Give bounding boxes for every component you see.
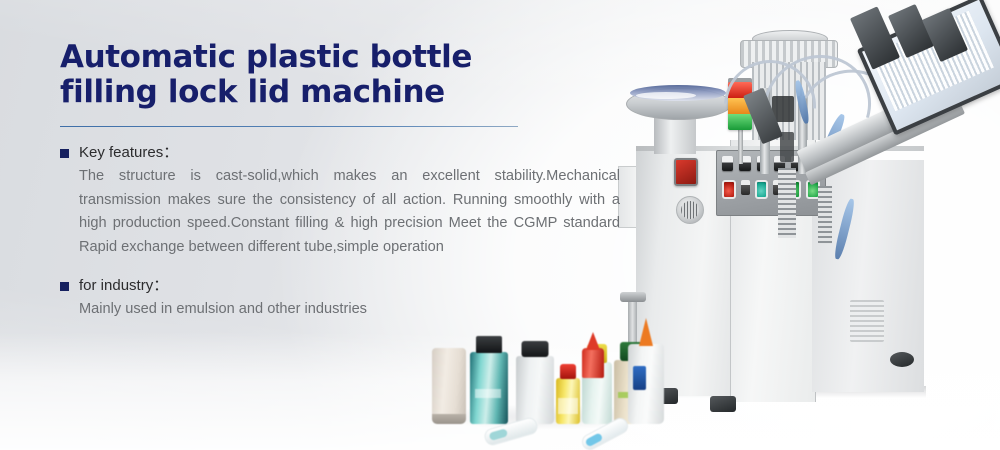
title-divider — [60, 126, 518, 127]
cabinet-fan-grille-icon — [676, 196, 704, 224]
push-button-red-icon — [722, 180, 736, 199]
bottle-teal — [470, 352, 508, 424]
bottle-cosmetic-tube — [432, 348, 466, 424]
section-body: Mainly used in emulsion and other indust… — [79, 298, 620, 322]
bottle-white — [516, 356, 554, 424]
cabinet-vent-louvers-icon — [850, 300, 884, 342]
section-heading: Key features： — [79, 143, 178, 162]
bottle-cap — [476, 336, 502, 353]
page-title: Automatic plastic bottle filling lock li… — [60, 40, 560, 110]
section-heading: for industry： — [79, 276, 168, 295]
section-key-features: Key features： The structure is cast-soli… — [60, 143, 620, 259]
turret-spring — [818, 186, 832, 244]
bottle-orange-tip — [628, 344, 664, 424]
emergency-stop-switch-icon — [674, 158, 698, 186]
bottle-cap — [522, 341, 549, 357]
push-button-teal-icon — [755, 180, 769, 199]
bowl-feeder-highlight — [636, 92, 696, 99]
selector-knob-icon — [722, 156, 733, 171]
caster-wheel — [710, 396, 736, 412]
copy-block: Automatic plastic bottle filling lock li… — [60, 40, 620, 322]
caster-wheel — [890, 352, 914, 367]
machine-photo — [612, 0, 1000, 430]
turret-spring — [778, 168, 796, 238]
square-bullet-icon — [60, 149, 69, 158]
bottle-red-dropper — [582, 348, 604, 378]
section-for-industry: for industry： Mainly used in emulsion an… — [60, 276, 620, 322]
section-heading-row: for industry： — [60, 276, 620, 295]
square-bullet-icon — [60, 282, 69, 291]
product-banner: Automatic plastic bottle filling lock li… — [0, 0, 1000, 450]
push-button-row — [722, 180, 820, 199]
section-body: The structure is cast-solid,which makes … — [79, 165, 620, 259]
bottle-label — [633, 366, 646, 390]
bottle-label — [475, 389, 501, 398]
bottle-label — [558, 398, 578, 414]
bottle-cap — [560, 364, 576, 379]
bottle-yellow — [556, 378, 580, 424]
push-button-black-icon — [741, 180, 750, 195]
section-heading-row: Key features： — [60, 143, 620, 162]
